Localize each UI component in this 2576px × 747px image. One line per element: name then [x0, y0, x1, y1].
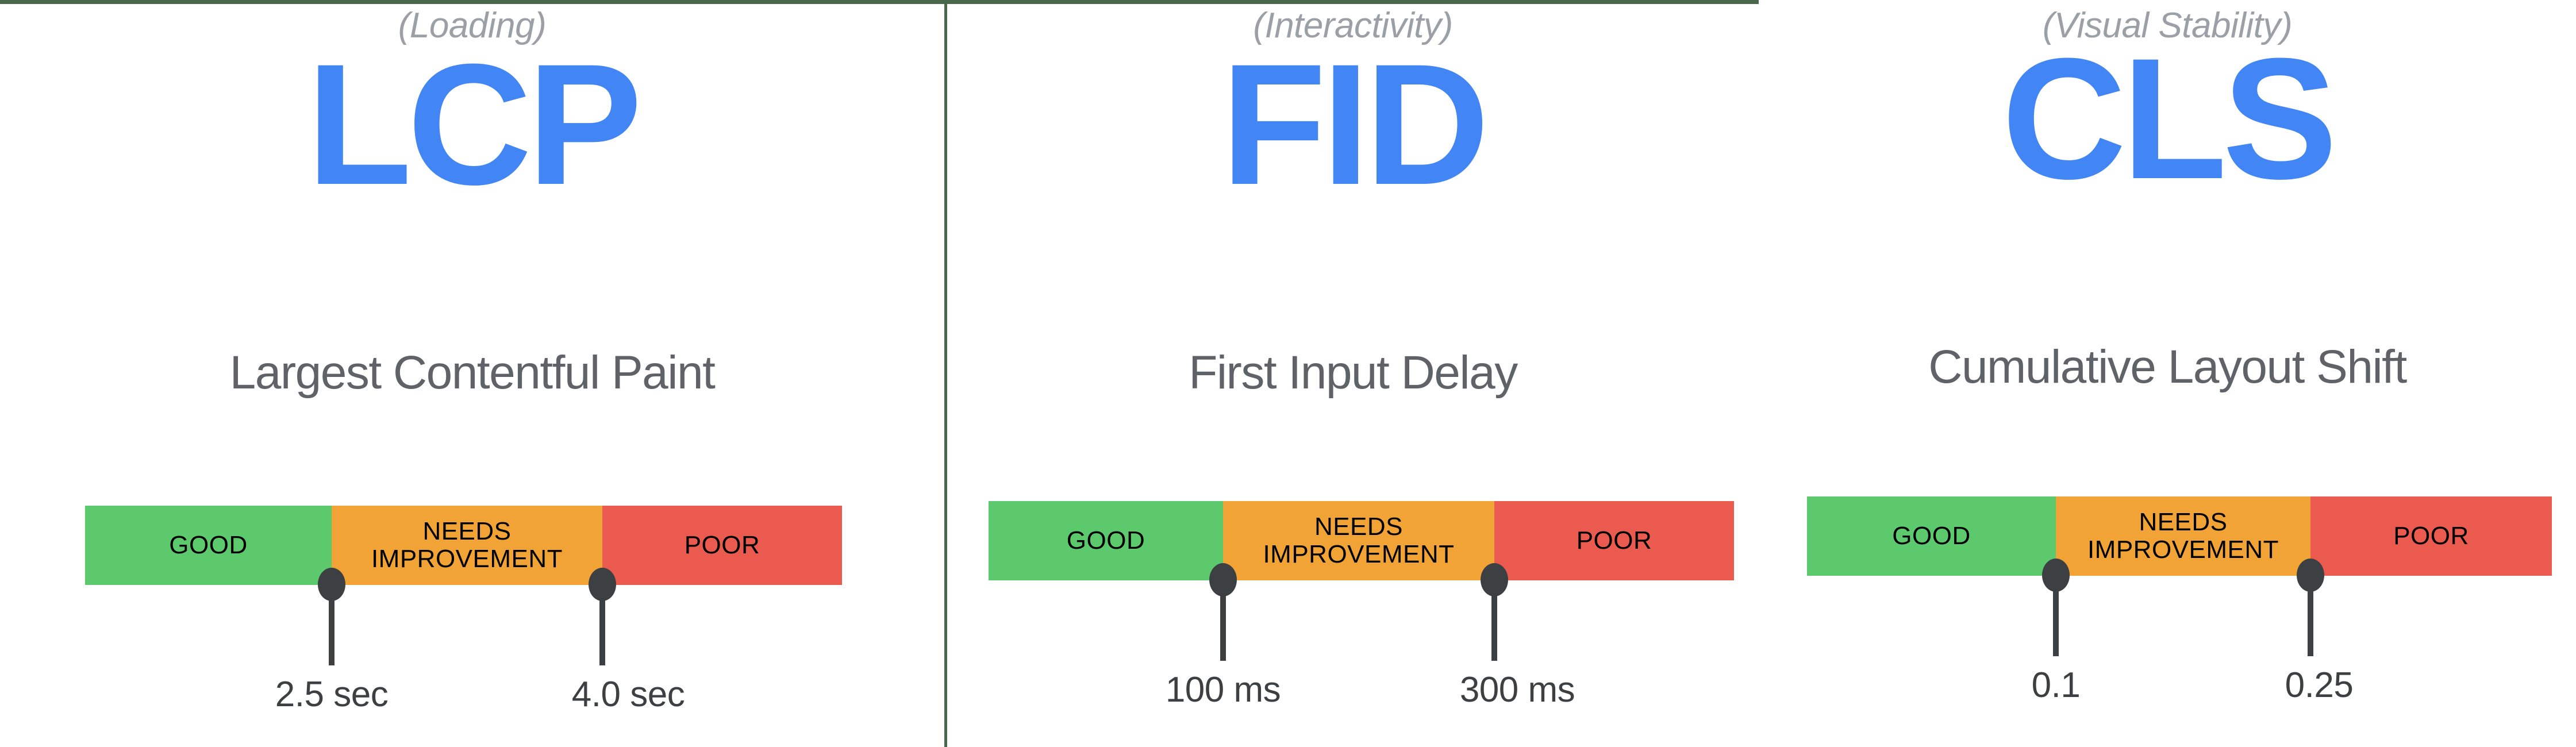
marker-stem-icon — [2053, 582, 2059, 656]
metric-panel-cls: (Visual Stability) CLS Cumulative Layout… — [1759, 0, 2576, 747]
threshold-segment-poor: POOR — [2310, 496, 2552, 576]
threshold-value-label: 4.0 sec — [513, 677, 743, 713]
threshold-bar-lcp: GOOD NEEDS IMPROVEMENT POOR — [85, 506, 842, 585]
marker-stem-icon — [599, 591, 605, 665]
threshold-segment-good: GOOD — [1807, 496, 2056, 576]
core-web-vitals-infographic: (Loading) LCP Largest Contentful Paint G… — [0, 0, 2576, 747]
threshold-segment-good: GOOD — [85, 506, 332, 585]
threshold-bar-cls: GOOD NEEDS IMPROVEMENT POOR — [1807, 496, 2552, 576]
metric-panel-fid: (Interactivity) FID First Input Delay GO… — [947, 0, 1759, 747]
threshold-value-label: 100 ms — [1108, 672, 1338, 708]
metric-fullname-fid: First Input Delay — [947, 349, 1759, 396]
threshold-value-label: 0.25 — [2204, 668, 2434, 703]
metric-panel-lcp: (Loading) LCP Largest Contentful Paint G… — [0, 0, 944, 747]
marker-stem-icon — [2308, 582, 2313, 656]
metric-acronym-cls: CLS — [1759, 32, 2576, 205]
threshold-bar-fid: GOOD NEEDS IMPROVEMENT POOR — [989, 501, 1734, 580]
threshold-segment-needs-improvement: NEEDS IMPROVEMENT — [2056, 496, 2310, 576]
marker-stem-icon — [329, 591, 335, 665]
metric-fullname-cls: Cumulative Layout Shift — [1759, 344, 2576, 391]
threshold-segment-good: GOOD — [989, 501, 1223, 580]
threshold-segment-needs-improvement: NEEDS IMPROVEMENT — [1223, 501, 1494, 580]
threshold-value-label: 2.5 sec — [217, 677, 447, 713]
threshold-segment-poor: POOR — [1494, 501, 1734, 580]
marker-stem-icon — [1220, 586, 1226, 661]
metric-acronym-fid: FID — [947, 38, 1759, 210]
metric-acronym-lcp: LCP — [0, 38, 944, 210]
threshold-segment-needs-improvement: NEEDS IMPROVEMENT — [332, 506, 602, 585]
threshold-value-label: 0.1 — [1941, 668, 2171, 703]
metric-fullname-lcp: Largest Contentful Paint — [0, 349, 944, 396]
threshold-segment-poor: POOR — [602, 506, 842, 585]
threshold-value-label: 300 ms — [1402, 672, 1632, 708]
marker-stem-icon — [1491, 586, 1497, 661]
